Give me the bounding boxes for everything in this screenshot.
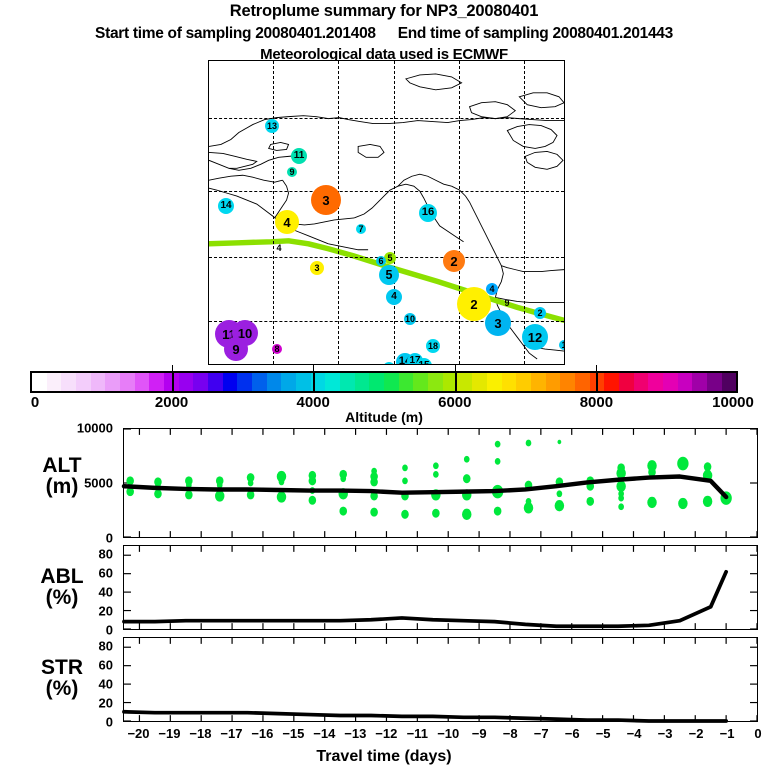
altitude-colorbar[interactable] bbox=[30, 371, 738, 393]
colorbar-segment bbox=[472, 373, 487, 391]
map-gridline-vertical bbox=[394, 61, 395, 364]
colorbar-segment bbox=[678, 373, 693, 391]
colorbar-segment bbox=[267, 373, 282, 391]
str-plot-area bbox=[124, 638, 757, 721]
map-plume-marker[interactable]: 9 bbox=[287, 167, 297, 177]
map-plume-marker-label: 9 bbox=[289, 168, 294, 177]
map-plume-marker[interactable]: 2 bbox=[534, 307, 546, 319]
colorbar-segment bbox=[487, 373, 502, 391]
map-plume-marker[interactable]: 4 bbox=[386, 289, 402, 305]
x-axis-tick-label: −15 bbox=[282, 726, 304, 741]
map-plume-marker[interactable]: 7 bbox=[356, 224, 366, 234]
x-axis-tick-label: −19 bbox=[158, 726, 180, 741]
colorbar-segment bbox=[663, 373, 678, 391]
x-axis-tick-label: −20 bbox=[127, 726, 149, 741]
colorbar-segment bbox=[135, 373, 150, 391]
x-axis-tick-label: −9 bbox=[472, 726, 487, 741]
x-axis-tick-label: −13 bbox=[344, 726, 366, 741]
map-plume-marker-label: 4 bbox=[283, 216, 290, 229]
map-plume-marker-label: 3 bbox=[314, 264, 319, 273]
y-axis-tick-label: 10000 bbox=[77, 421, 113, 436]
end-time-label: End time of sampling 20080401.201443 bbox=[398, 25, 673, 42]
colorbar-segment bbox=[722, 373, 737, 391]
colorbar-tick-label: 0 bbox=[31, 394, 39, 411]
map-plume-marker-label: 2 bbox=[537, 309, 542, 318]
abl-chart-panel[interactable] bbox=[123, 545, 758, 630]
x-axis-tick-label: −12 bbox=[375, 726, 397, 741]
map-gridline-vertical bbox=[273, 61, 274, 364]
colorbar-axis-title: Altitude (m) bbox=[0, 409, 768, 425]
colorbar-segment bbox=[502, 373, 517, 391]
colorbar-divider bbox=[172, 371, 174, 393]
colorbar-segment bbox=[120, 373, 135, 391]
colorbar-segment bbox=[91, 373, 106, 391]
str-chart-panel[interactable] bbox=[123, 637, 758, 722]
x-axis-tick-label: −5 bbox=[596, 726, 611, 741]
alt-y-axis: 1000050000 bbox=[57, 428, 117, 538]
colorbar-tick-label: 2000 bbox=[155, 394, 188, 411]
colorbar-segment bbox=[369, 373, 384, 391]
map-plume-marker-label: 2 bbox=[450, 255, 457, 268]
y-axis-tick-label: 0 bbox=[106, 531, 113, 546]
colorbar-segment bbox=[149, 373, 164, 391]
x-axis-tick-label: −2 bbox=[689, 726, 704, 741]
colorbar-segment bbox=[237, 373, 252, 391]
map-plume-marker[interactable]: 4 bbox=[275, 210, 299, 234]
colorbar-segment bbox=[223, 373, 238, 391]
map-plume-marker[interactable]: 1 bbox=[559, 340, 565, 350]
map-plume-marker-label: 4 bbox=[489, 285, 494, 294]
map-plume-marker[interactable]: 19 bbox=[383, 362, 395, 365]
colorbar-segment bbox=[648, 373, 663, 391]
colorbar-tick bbox=[455, 365, 456, 372]
colorbar-tick-label: 6000 bbox=[438, 394, 471, 411]
map-plume-marker[interactable]: 10 bbox=[404, 313, 416, 325]
colorbar-segment bbox=[634, 373, 649, 391]
colorbar-segment bbox=[692, 373, 707, 391]
map-plume-marker[interactable]: 3 bbox=[485, 310, 511, 336]
map-plume-marker[interactable]: 18 bbox=[426, 339, 440, 353]
x-axis-tick-label: −8 bbox=[503, 726, 518, 741]
colorbar-divider bbox=[455, 371, 457, 393]
x-axis-tick-label: −7 bbox=[534, 726, 549, 741]
map-plume-marker-label: 10 bbox=[405, 315, 415, 324]
start-time-label: Start time of sampling 20080401.201408 bbox=[95, 25, 376, 42]
str-y-axis: 806040200 bbox=[57, 637, 117, 722]
colorbar-segment bbox=[604, 373, 619, 391]
map-plume-marker-label: 6 bbox=[378, 257, 383, 266]
colorbar-segment bbox=[457, 373, 472, 391]
alt-plot-area bbox=[124, 429, 757, 537]
plume-trajectory-line bbox=[209, 61, 564, 364]
map-plume-marker-label: 9 bbox=[232, 343, 239, 356]
map-plume-marker-label: 5 bbox=[386, 269, 393, 282]
map-plume-marker-label: 5 bbox=[387, 254, 392, 263]
map-plume-marker-label: 16 bbox=[422, 207, 435, 218]
map-gridline-horizontal bbox=[209, 118, 564, 119]
colorbar-segment bbox=[413, 373, 428, 391]
x-axis-tick-label: −1 bbox=[720, 726, 735, 741]
colorbar-segment bbox=[546, 373, 561, 391]
x-axis-tick-label: −18 bbox=[189, 726, 211, 741]
colorbar-segment bbox=[193, 373, 208, 391]
colorbar-segment bbox=[516, 373, 531, 391]
map-plume-marker[interactable]: 9 bbox=[503, 299, 511, 307]
map-gridline-horizontal bbox=[209, 191, 564, 192]
map-plume-marker[interactable]: 14 bbox=[218, 198, 234, 214]
map-plume-marker[interactable]: 11 bbox=[291, 148, 307, 164]
y-axis-tick-label: 0 bbox=[106, 623, 113, 638]
page-title: Retroplume summary for NP3_20080401 bbox=[0, 2, 768, 21]
x-axis-tick-label: −17 bbox=[220, 726, 242, 741]
colorbar-segment bbox=[619, 373, 634, 391]
colorbar-segment bbox=[384, 373, 399, 391]
x-axis-tick-label: −6 bbox=[565, 726, 580, 741]
colorbar-tick-label: 4000 bbox=[297, 394, 330, 411]
map-plume-marker[interactable]: 2 bbox=[443, 250, 465, 272]
x-axis-tick-label: −14 bbox=[313, 726, 335, 741]
colorbar-tick bbox=[172, 365, 173, 372]
map-plume-marker-label: 18 bbox=[428, 342, 438, 351]
x-axis-tick-label: −10 bbox=[437, 726, 459, 741]
map-plume-marker-label: 19 bbox=[384, 364, 394, 366]
map-plume-marker[interactable]: 12 bbox=[522, 324, 548, 350]
map-plume-marker-label: 7 bbox=[358, 225, 363, 234]
map-plume-marker-label: 4 bbox=[276, 244, 281, 253]
map-plume-marker-label: 3 bbox=[494, 317, 501, 330]
y-axis-tick-label: 20 bbox=[99, 604, 113, 619]
map-plume-marker-label: 2 bbox=[470, 298, 477, 311]
map-gridline-vertical bbox=[459, 61, 460, 364]
colorbar-segment bbox=[47, 373, 62, 391]
map-gridline-vertical bbox=[338, 61, 339, 364]
sampling-times: Start time of sampling 20080401.201408En… bbox=[0, 25, 768, 43]
colorbar-segment bbox=[707, 373, 722, 391]
x-axis-tick-label: −16 bbox=[251, 726, 273, 741]
colorbar-tick-label: 8000 bbox=[580, 394, 613, 411]
map-plume-marker[interactable]: 4 bbox=[274, 243, 284, 253]
y-axis-tick-label: 5000 bbox=[84, 476, 113, 491]
map-plume-marker-label: 15 bbox=[418, 361, 429, 365]
colorbar-segment bbox=[296, 373, 311, 391]
map-plume-marker-label: 1 bbox=[561, 341, 565, 350]
x-axis-tick-label: −11 bbox=[407, 726, 428, 741]
y-axis-tick-label: 60 bbox=[99, 566, 113, 581]
retroplume-map[interactable]: 1311983144167456325442910321211819141715… bbox=[208, 60, 565, 365]
map-plume-marker[interactable]: 9 bbox=[224, 337, 248, 361]
colorbar-segment bbox=[76, 373, 91, 391]
colorbar-segment bbox=[252, 373, 267, 391]
map-plume-marker[interactable]: 16 bbox=[419, 204, 437, 222]
map-plume-marker-label: 13 bbox=[267, 122, 277, 131]
colorbar-divider bbox=[313, 371, 315, 393]
colorbar-segment bbox=[325, 373, 340, 391]
y-axis-tick-label: 40 bbox=[99, 585, 113, 600]
colorbar-segment bbox=[208, 373, 223, 391]
map-plume-marker-label: 14 bbox=[220, 201, 231, 211]
x-axis-title: Travel time (days) bbox=[0, 748, 768, 766]
map-plume-marker[interactable]: 8 bbox=[272, 344, 282, 354]
colorbar-segment bbox=[575, 373, 590, 391]
y-axis-tick-label: 40 bbox=[99, 677, 113, 692]
map-plume-marker[interactable]: 13 bbox=[265, 119, 279, 133]
y-axis-tick-label: 20 bbox=[99, 696, 113, 711]
map-plume-marker[interactable]: 15 bbox=[416, 358, 432, 365]
colorbar-segment bbox=[340, 373, 355, 391]
colorbar-segment bbox=[61, 373, 76, 391]
abl-y-axis: 806040200 bbox=[57, 545, 117, 630]
map-plume-marker[interactable]: 6 bbox=[376, 256, 386, 266]
alt-chart-panel[interactable] bbox=[123, 428, 758, 538]
colorbar-segment bbox=[355, 373, 370, 391]
map-plume-marker[interactable]: 3 bbox=[310, 261, 324, 275]
colorbar-tick bbox=[313, 365, 314, 372]
colorbar-tick-label: 10000 bbox=[712, 394, 754, 411]
colorbar-segment bbox=[560, 373, 575, 391]
map-plume-marker-label: 12 bbox=[528, 331, 542, 344]
map-plume-marker-label: 4 bbox=[391, 292, 397, 302]
x-axis-tick-label: −3 bbox=[658, 726, 673, 741]
x-axis-tick-label: 0 bbox=[754, 726, 761, 741]
colorbar-segment bbox=[399, 373, 414, 391]
map-plume-marker[interactable]: 3 bbox=[311, 185, 341, 215]
map-plume-marker-label: 9 bbox=[504, 299, 509, 308]
y-axis-tick-label: 80 bbox=[99, 547, 113, 562]
y-axis-tick-label: 80 bbox=[99, 639, 113, 654]
colorbar-tick bbox=[596, 365, 597, 372]
map-gridline-vertical bbox=[524, 61, 525, 364]
map-plume-marker-label: 11 bbox=[294, 151, 305, 161]
colorbar-segment bbox=[179, 373, 194, 391]
colorbar-segment bbox=[105, 373, 120, 391]
abl-plot-area bbox=[124, 546, 757, 629]
map-plume-marker-label: 8 bbox=[274, 345, 279, 354]
colorbar-segment bbox=[531, 373, 546, 391]
y-axis-tick-label: 60 bbox=[99, 658, 113, 673]
colorbar-segment bbox=[281, 373, 296, 391]
colorbar-segment bbox=[32, 373, 47, 391]
map-plume-marker-label: 3 bbox=[322, 194, 329, 207]
colorbar-divider bbox=[596, 371, 598, 393]
map-plume-marker[interactable]: 5 bbox=[379, 265, 399, 285]
y-axis-tick-label: 0 bbox=[106, 715, 113, 730]
x-axis-tick-label: −4 bbox=[627, 726, 642, 741]
colorbar-segment bbox=[428, 373, 443, 391]
